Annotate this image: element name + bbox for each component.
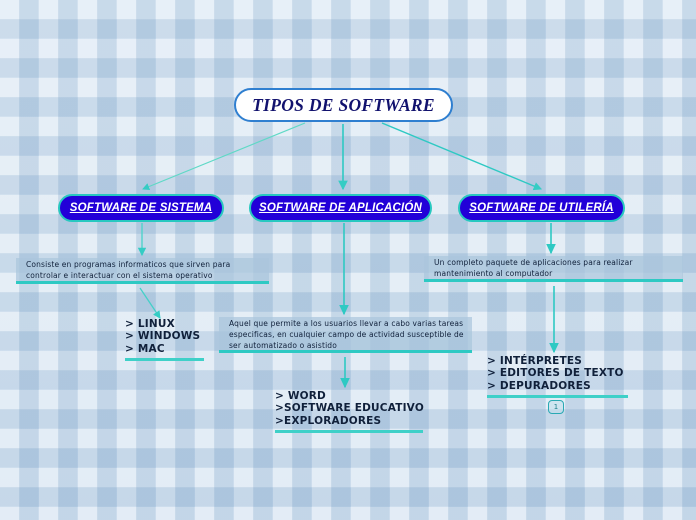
leaf-list-utileria: > INTÉRPRETES > EDITORES DE TEXTO > DEPU… [487,355,628,398]
list-item: > LINUX [125,318,204,330]
root-node-tipos-de-software[interactable]: TIPOS DE SOFTWARE [234,88,453,122]
connector-desc-sistema-to-list [140,288,160,318]
category-node-label-utileria: SOFTWARE DE UTILERÍA [469,202,614,214]
connector-root-to-utileria [382,123,541,189]
list-item: > DEPURADORES [487,380,628,392]
page-number-badge-label: 1 [554,404,558,411]
description-box-utileria: Un completo paquete de aplicaciones para… [424,256,683,282]
description-text-utileria: Un completo paquete de aplicaciones para… [434,257,675,279]
description-text-sistema: Consiste en programas informaticos que s… [26,259,261,281]
description-text-aplicacion: Aquel que permite a los usuarios llevar … [229,318,464,351]
category-node-software-de-aplicacion[interactable]: SOFTWARE DE APLICACIÓN [249,194,432,222]
category-node-software-de-utileria[interactable]: SOFTWARE DE UTILERÍA [458,194,625,222]
list-item: > WORD [275,390,423,402]
leaf-list-aplicacion: > WORD >SOFTWARE EDUCATIVO >EXPLORADORES [275,390,423,433]
list-item: >EXPLORADORES [275,415,423,427]
list-item: > INTÉRPRETES [487,355,628,367]
category-node-label-sistema: SOFTWARE DE SISTEMA [70,202,212,214]
connector-root-to-sistema [143,123,305,189]
root-node-label: TIPOS DE SOFTWARE [252,95,435,116]
mindmap-canvas: TIPOS DE SOFTWARE SOFTWARE DE SISTEMA SO… [0,0,696,520]
category-node-label-aplicacion: SOFTWARE DE APLICACIÓN [259,202,422,214]
list-item: > EDITORES DE TEXTO [487,367,628,379]
list-item: > MAC [125,343,204,355]
list-item: >SOFTWARE EDUCATIVO [275,402,423,414]
category-node-software-de-sistema[interactable]: SOFTWARE DE SISTEMA [58,194,224,222]
description-box-sistema: Consiste en programas informaticos que s… [16,258,269,284]
page-number-badge[interactable]: 1 [548,400,564,414]
description-box-aplicacion: Aquel que permite a los usuarios llevar … [219,317,472,353]
list-item: > WINDOWS [125,330,204,342]
leaf-list-sistema: > LINUX > WINDOWS > MAC [125,318,204,361]
